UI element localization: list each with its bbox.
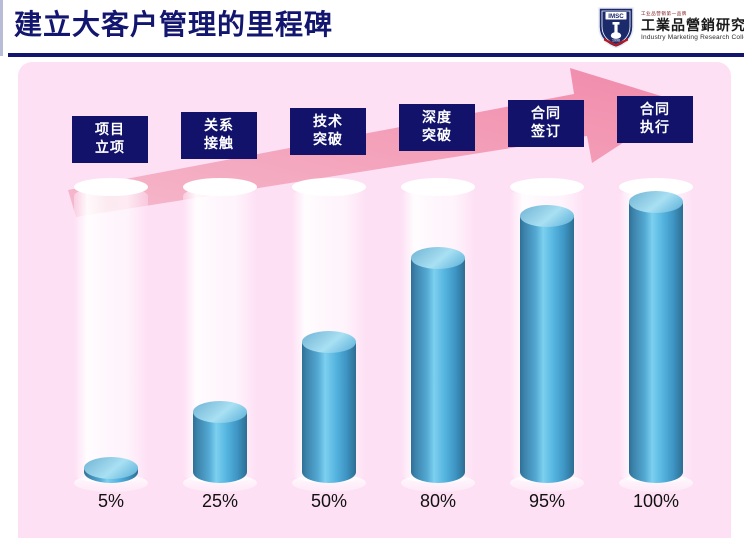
bar-cylinder-4-top: [411, 247, 465, 269]
glass-track-4-top: [401, 178, 475, 196]
bar-cylinder-3-body: [302, 342, 356, 483]
stage-label-1-line2: 立项: [72, 139, 148, 157]
glass-track-5-top: [510, 178, 584, 196]
svg-text:1998: 1998: [612, 39, 620, 43]
stage-label-2[interactable]: 关系 接触: [181, 112, 257, 159]
bar-cylinder-6[interactable]: [629, 202, 683, 483]
bar-cylinder-2-top: [193, 401, 247, 423]
bar-cylinder-5[interactable]: [520, 216, 574, 483]
percent-label-2: 25%: [183, 491, 257, 512]
glass-track-1-top: [74, 178, 148, 196]
content-panel: 项目 立项 关系 接触 技术 突破 深度 突破 合同 签订 合同 执行: [18, 62, 731, 538]
glass-track-2-top: [183, 178, 257, 196]
left-edge-bar: [0, 0, 3, 56]
percent-label-5: 95%: [510, 491, 584, 512]
stage-label-2-line1: 关系: [181, 117, 257, 135]
percent-label-6: 100%: [619, 491, 693, 512]
stage-label-6-line2: 执行: [617, 119, 693, 137]
title-divider: [8, 53, 744, 57]
bar-cylinder-5-top: [520, 205, 574, 227]
bar-cylinder-1-top: [84, 457, 138, 479]
logo-text: 工业品营销第一品牌 工業品營銷研究院 Industry Marketing Re…: [641, 13, 744, 42]
stage-label-5-line1: 合同: [508, 105, 584, 123]
percent-label-4: 80%: [401, 491, 475, 512]
bar-cylinder-1[interactable]: [84, 468, 138, 483]
stage-label-6[interactable]: 合同 执行: [617, 96, 693, 143]
stage-label-5-line2: 签订: [508, 123, 584, 141]
logo-name-cn: 工業品營銷研究院: [641, 19, 744, 33]
bar-cylinder-4[interactable]: [411, 258, 465, 483]
stage-label-5[interactable]: 合同 签订: [508, 100, 584, 147]
bar-cylinder-3[interactable]: [302, 342, 356, 483]
slide-header: 建立大客户管理的里程碑 IMSC 1998 工业品营销第一品牌: [0, 0, 744, 58]
logo-name-en: Industry Marketing Research College: [641, 35, 744, 42]
bar-cylinder-6-top: [629, 191, 683, 213]
stage-label-3-line1: 技术: [290, 113, 366, 131]
svg-text:IMSC: IMSC: [608, 13, 624, 20]
shield-icon: IMSC 1998: [596, 5, 636, 49]
percent-label-1: 5%: [74, 491, 148, 512]
stage-label-4-line1: 深度: [399, 109, 475, 127]
stage-label-3-line2: 突破: [290, 131, 366, 149]
logo: IMSC 1998 工业品营销第一品牌 工業品營銷研究院 Industry Ma…: [596, 3, 738, 51]
glass-track-3-top: [292, 178, 366, 196]
logo-tagline: 工业品营销第一品牌: [641, 13, 744, 18]
slide: 建立大客户管理的里程碑 IMSC 1998 工业品营销第一品牌: [0, 0, 744, 538]
stage-label-4-line2: 突破: [399, 127, 475, 145]
bar-cylinder-6-body: [629, 202, 683, 483]
stage-label-2-line2: 接触: [181, 135, 257, 153]
stage-label-4[interactable]: 深度 突破: [399, 104, 475, 151]
glass-track-1: [74, 187, 148, 483]
percent-label-3: 50%: [292, 491, 366, 512]
page-title: 建立大客户管理的里程碑: [14, 4, 333, 46]
bar-cylinder-2[interactable]: [193, 412, 247, 483]
bar-cylinder-3-top: [302, 331, 356, 353]
stage-label-1-line1: 项目: [72, 121, 148, 139]
stage-label-6-line1: 合同: [617, 101, 693, 119]
stage-label-1[interactable]: 项目 立项: [72, 116, 148, 163]
bar-cylinder-5-body: [520, 216, 574, 483]
bar-cylinder-4-body: [411, 258, 465, 483]
stage-label-3[interactable]: 技术 突破: [290, 108, 366, 155]
